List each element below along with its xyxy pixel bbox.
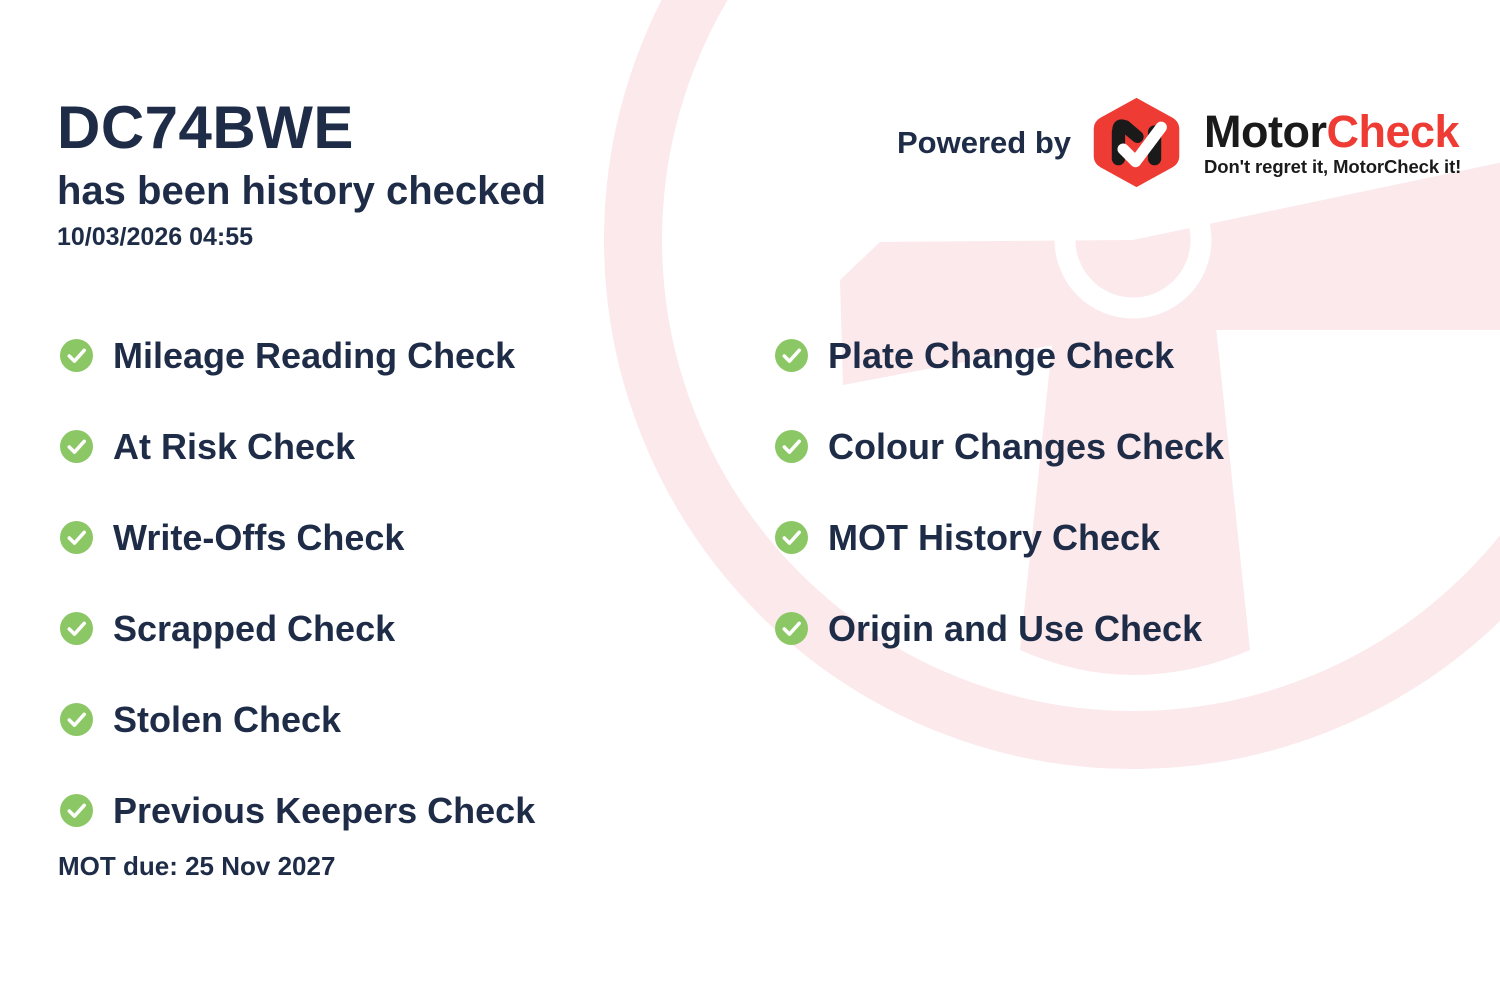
powered-by-label: Powered by: [897, 127, 1071, 158]
vehicle-registration: DC74BWE: [57, 98, 546, 158]
check-item: Colour Changes Check: [775, 401, 1224, 492]
check-item-label: Scrapped Check: [113, 611, 395, 647]
check-timestamp: 10/03/2026 04:55: [57, 225, 546, 250]
check-item-label: Previous Keepers Check: [113, 793, 535, 829]
wordmark-primary: Motor: [1204, 106, 1326, 157]
header-block: DC74BWE has been history checked 10/03/2…: [57, 98, 546, 250]
check-item: MOT History Check: [775, 492, 1224, 583]
check-item: Stolen Check: [60, 674, 535, 765]
check-circle-icon: [60, 794, 93, 827]
check-circle-icon: [60, 430, 93, 463]
check-circle-icon: [775, 521, 808, 554]
check-item-label: Stolen Check: [113, 702, 341, 738]
history-check-summary-card: DC74BWE has been history checked 10/03/2…: [0, 0, 1500, 1000]
page-title: has been history checked: [57, 171, 546, 211]
motorcheck-hexagon-logo-icon: [1089, 95, 1184, 190]
motorcheck-wordmark: MotorCheck Don't regret it, MotorCheck i…: [1204, 109, 1461, 177]
check-item-label: Origin and Use Check: [828, 611, 1202, 647]
check-item-label: Mileage Reading Check: [113, 338, 515, 374]
check-circle-icon: [60, 521, 93, 554]
check-circle-icon: [775, 612, 808, 645]
check-item-label: At Risk Check: [113, 429, 355, 465]
check-circle-icon: [775, 339, 808, 372]
check-item: Scrapped Check: [60, 583, 535, 674]
brand-tagline: Don't regret it, MotorCheck it!: [1204, 158, 1461, 177]
check-item: Previous Keepers Check: [60, 765, 535, 856]
check-circle-icon: [775, 430, 808, 463]
wordmark-accent: Check: [1326, 106, 1459, 157]
check-item-label: MOT History Check: [828, 520, 1160, 556]
check-item: Plate Change Check: [775, 310, 1224, 401]
checks-column-right: Plate Change Check Colour Changes Check …: [775, 310, 1224, 674]
check-item-label: Colour Changes Check: [828, 429, 1224, 465]
check-circle-icon: [60, 612, 93, 645]
check-item: Write-Offs Check: [60, 492, 535, 583]
checks-column-left: Mileage Reading Check At Risk Check Writ…: [60, 310, 535, 856]
brand-bar: Powered by MotorCheck Don't regret it, M…: [897, 95, 1461, 190]
check-item-label: Plate Change Check: [828, 338, 1174, 374]
check-item: At Risk Check: [60, 401, 535, 492]
check-circle-icon: [60, 703, 93, 736]
check-item-label: Write-Offs Check: [113, 520, 404, 556]
check-circle-icon: [60, 339, 93, 372]
check-item: Origin and Use Check: [775, 583, 1224, 674]
check-item: Mileage Reading Check: [60, 310, 535, 401]
mot-due-note: MOT due: 25 Nov 2027: [58, 853, 335, 879]
